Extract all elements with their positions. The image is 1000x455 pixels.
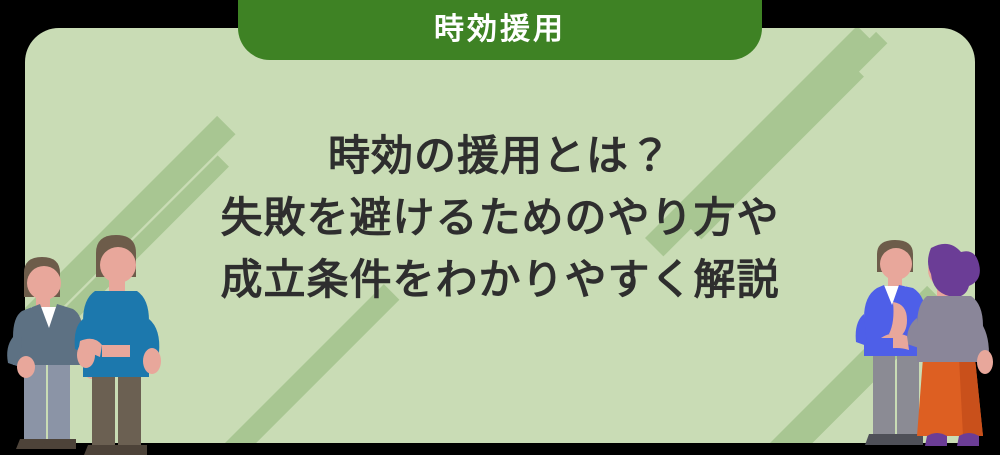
category-badge: 時効援用 [238,0,762,60]
illustration-left-two-men [0,215,190,455]
decorative-stripe [690,65,864,239]
category-badge-label: 時効援用 [434,15,566,45]
left-figures-svg [0,215,190,455]
illustration-right-man-and-woman [855,240,1000,455]
decorative-stripe [770,32,887,149]
decorative-stripe [645,28,876,256]
banner-canvas: 時効援用 時効の援用とは？ 失敗を避けるためのやり方や 成立条件をわかりやすく解… [0,0,1000,455]
decorative-stripe [200,284,399,443]
figure-man-in-blue-sweater [75,235,161,455]
right-figures-svg [855,240,1000,455]
